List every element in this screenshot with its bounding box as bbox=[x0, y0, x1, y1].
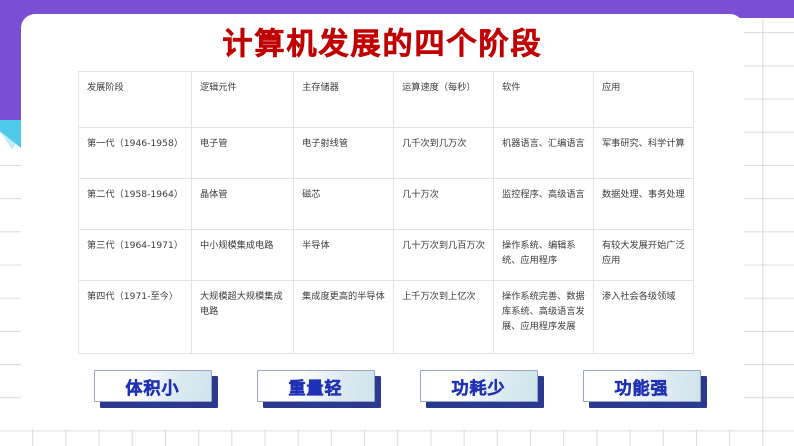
cell-software: 操作系统、编辑系统、应用程序 bbox=[494, 230, 594, 281]
feature-button-label: 体积小 bbox=[126, 374, 180, 399]
cell-stage: 第四代（1971-至今） bbox=[79, 281, 192, 354]
cell-stage: 第三代（1964-1971） bbox=[79, 230, 192, 281]
cell-application: 军事研究、科学计算 bbox=[593, 128, 693, 179]
table-row: 第四代（1971-至今） 大规模超大规模集成电路 集成度更高的半导体 上千万次到… bbox=[79, 281, 694, 354]
cell-logic: 大规模超大规模集成电路 bbox=[192, 281, 294, 354]
feature-button-light-weight[interactable]: 重量轻 bbox=[257, 370, 375, 402]
column-header-speed: 运算速度（每秒） bbox=[394, 72, 494, 128]
cell-memory: 磁芯 bbox=[294, 179, 394, 230]
cell-software: 操作系统完善、数据库系统、高级语言发展、应用程序发展 bbox=[494, 281, 594, 354]
button-face[interactable]: 体积小 bbox=[94, 370, 212, 402]
computer-generations-table-wrapper: 发展阶段 逻辑元件 主存储器 运算速度（每秒） 软件 应用 第一代（1946-1… bbox=[78, 71, 694, 354]
cell-speed: 几十万次到几百万次 bbox=[394, 230, 494, 281]
cell-speed: 几十万次 bbox=[394, 179, 494, 230]
feature-button-label: 功能强 bbox=[615, 374, 669, 399]
cell-memory: 集成度更高的半导体 bbox=[294, 281, 394, 354]
cell-logic: 晶体管 bbox=[192, 179, 294, 230]
cell-application: 渗入社会各级领域 bbox=[593, 281, 693, 354]
feature-button-label: 重量轻 bbox=[289, 374, 343, 399]
feature-button-row: 体积小 重量轻 功耗少 功能强 bbox=[0, 370, 794, 416]
column-header-logic: 逻辑元件 bbox=[192, 72, 294, 128]
table-row: 第三代（1964-1971） 中小规模集成电路 半导体 几十万次到几百万次 操作… bbox=[79, 230, 694, 281]
cell-logic: 电子管 bbox=[192, 128, 294, 179]
cell-speed: 上千万次到上亿次 bbox=[394, 281, 494, 354]
page-title: 计算机发展的四个阶段 bbox=[21, 30, 744, 60]
column-header-memory: 主存储器 bbox=[294, 72, 394, 128]
table-header-row: 发展阶段 逻辑元件 主存储器 运算速度（每秒） 软件 应用 bbox=[79, 72, 694, 128]
table-row: 第二代（1958-1964） 晶体管 磁芯 几十万次 监控程序、高级语言 数据处… bbox=[79, 179, 694, 230]
feature-button-label: 功耗少 bbox=[452, 374, 506, 399]
button-face[interactable]: 重量轻 bbox=[257, 370, 375, 402]
cell-stage: 第一代（1946-1958） bbox=[79, 128, 192, 179]
cell-software: 监控程序、高级语言 bbox=[494, 179, 594, 230]
button-face[interactable]: 功能强 bbox=[583, 370, 701, 402]
cell-software: 机器语言、汇编语言 bbox=[494, 128, 594, 179]
content-card: 计算机发展的四个阶段 发展阶段 逻辑元件 主存储器 运算速度（每秒） 软件 应用 bbox=[21, 14, 744, 429]
column-header-application: 应用 bbox=[593, 72, 693, 128]
cell-memory: 电子射线管 bbox=[294, 128, 394, 179]
feature-button-low-power[interactable]: 功耗少 bbox=[420, 370, 538, 402]
column-header-software: 软件 bbox=[494, 72, 594, 128]
button-face[interactable]: 功耗少 bbox=[420, 370, 538, 402]
feature-button-small-size[interactable]: 体积小 bbox=[94, 370, 212, 402]
cell-application: 有较大发展开始广泛应用 bbox=[593, 230, 693, 281]
computer-generations-table: 发展阶段 逻辑元件 主存储器 运算速度（每秒） 软件 应用 第一代（1946-1… bbox=[78, 71, 694, 354]
cell-speed: 几千次到几万次 bbox=[394, 128, 494, 179]
cell-logic: 中小规模集成电路 bbox=[192, 230, 294, 281]
cell-stage: 第二代（1958-1964） bbox=[79, 179, 192, 230]
column-header-stage: 发展阶段 bbox=[79, 72, 192, 128]
slide-canvas: 计算机发展的四个阶段 发展阶段 逻辑元件 主存储器 运算速度（每秒） 软件 应用 bbox=[0, 0, 794, 446]
feature-button-strong-function[interactable]: 功能强 bbox=[583, 370, 701, 402]
cell-application: 数据处理、事务处理 bbox=[593, 179, 693, 230]
table-row: 第一代（1946-1958） 电子管 电子射线管 几千次到几万次 机器语言、汇编… bbox=[79, 128, 694, 179]
cell-memory: 半导体 bbox=[294, 230, 394, 281]
